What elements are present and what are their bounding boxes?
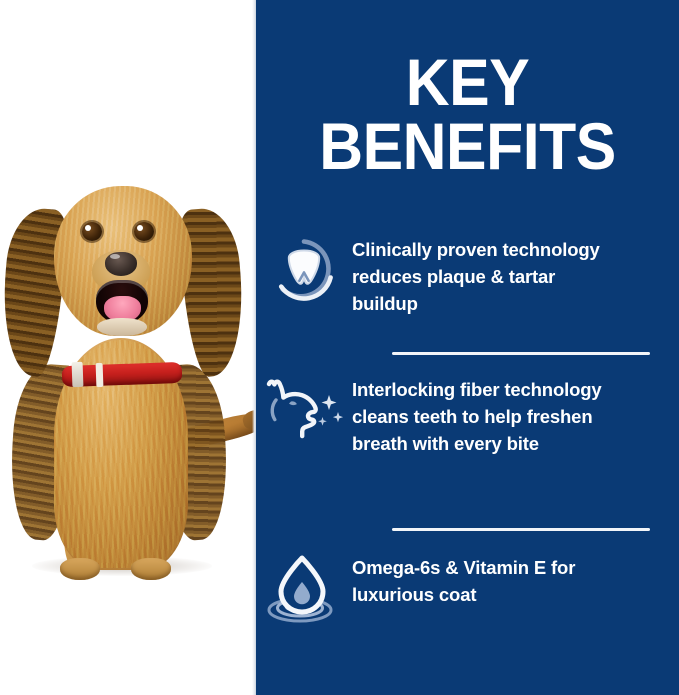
benefit-2-icon-slot [256,374,352,442]
dog-head-sparkle-icon [261,376,347,442]
benefit-item-2: Interlocking fiber technology cleans tee… [256,374,679,457]
benefit-item-1: Clinically proven technology reduces pla… [256,234,679,317]
benefit-3-text: Omega-6s & Vitamin E for luxurious coat [352,552,624,608]
collar-loop [96,363,104,387]
collar-buckle [72,362,84,387]
benefit-divider-2 [392,528,650,531]
sparkle-large [322,395,337,410]
benefit-3-icon-slot [256,552,352,624]
dachshund-dog-photo [2,168,254,598]
title-line-1: KEY [273,50,662,114]
tooth-shield-icon [271,236,337,302]
dog-paw-right [131,558,171,580]
benefit-2-text: Interlocking fiber technology cleans tee… [352,374,624,457]
benefit-item-3: Omega-6s & Vitamin E for luxurious coat [256,552,679,624]
water-droplet-icon [266,554,342,624]
dog-eye-glint-left [85,225,91,231]
sparkle-small [318,417,327,426]
benefit-divider-1 [392,352,650,355]
title-line-2: BENEFITS [273,114,662,178]
key-benefits-panel: KEY BENEFITS Clinically proven technolog… [0,0,679,695]
dog-paw-left [60,558,100,580]
page-title: KEY BENEFITS [273,50,662,178]
benefit-1-icon-slot [256,234,352,302]
dog-chin [97,318,147,336]
benefit-1-text: Clinically proven technology reduces pla… [352,234,624,317]
sparkle-medium [333,412,343,422]
dog-nose-highlight [110,254,120,259]
dog-eye-glint-right [137,225,143,231]
product-photo-panel [0,0,256,695]
